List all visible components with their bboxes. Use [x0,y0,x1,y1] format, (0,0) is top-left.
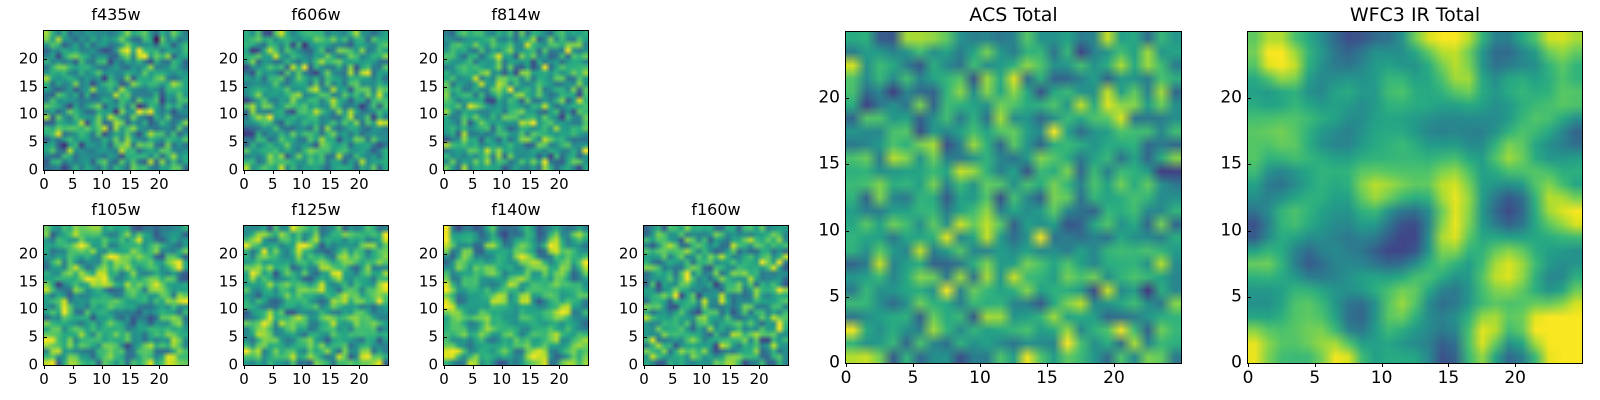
ytick-f606w-3 [243,87,247,88]
xtick-f435w-4 [159,170,160,174]
xticklabel-f140w-2: 10 [492,372,511,387]
xtick-f140w-3 [530,365,531,369]
axes-f435w [43,30,189,171]
axes-f814w [443,30,589,171]
xticklabel-wfc3-ir-total-2: 10 [1371,370,1393,387]
xticklabel-acs-total-4: 20 [1103,370,1125,387]
ytick-acs-total-0 [845,363,849,364]
yticklabel-f140w-3: 15 [398,274,438,289]
panel-wfc3-ir-total: WFC3 IR Total0510152005101520 [1247,5,1583,394]
ytick-f105w-0 [43,365,47,366]
panel-f160w: f160w0510152005101520 [643,199,789,396]
ytick-acs-total-4 [845,98,849,99]
xticklabel-f125w-1: 5 [268,372,278,387]
xticklabel-f160w-1: 5 [668,372,678,387]
yticklabel-acs-total-3: 15 [800,156,840,173]
panel-title-acs-total: ACS Total [845,6,1182,25]
xticklabel-wfc3-ir-total-0: 0 [1243,370,1254,387]
ytick-f140w-3 [443,282,447,283]
heatmap-f606w [244,31,388,170]
xtick-f105w-4 [159,365,160,369]
xticklabel-f160w-0: 0 [639,372,649,387]
yticklabel-f125w-1: 5 [198,330,238,345]
panel-f435w: f435w0510152005101520 [43,4,189,201]
yticklabel-f606w-4: 20 [198,51,238,66]
ytick-f140w-4 [443,254,447,255]
xticklabel-f160w-3: 15 [721,372,740,387]
panel-title-f435w: f435w [43,7,189,23]
yticklabel-f606w-2: 10 [198,107,238,122]
yticklabel-f606w-0: 0 [198,163,238,178]
figure-canvas: f435w0510152005101520f606w05101520051015… [0,0,1600,400]
xtick-f814w-1 [473,170,474,174]
ytick-f160w-4 [643,254,647,255]
yticklabel-f125w-2: 10 [198,302,238,317]
xticklabel-f435w-2: 10 [92,177,111,192]
xtick-f606w-4 [359,170,360,174]
xticklabel-f814w-4: 20 [550,177,569,192]
xtick-f140w-4 [559,365,560,369]
ytick-f105w-3 [43,282,47,283]
yticklabel-wfc3-ir-total-2: 10 [1202,222,1242,239]
yticklabel-f160w-1: 5 [598,330,638,345]
yticklabel-f606w-1: 5 [198,135,238,150]
ytick-f160w-1 [643,337,647,338]
xtick-f160w-2 [702,365,703,369]
xtick-f125w-1 [273,365,274,369]
xticklabel-f140w-1: 5 [468,372,478,387]
xtick-wfc3-ir-total-4 [1515,363,1516,367]
ytick-f606w-2 [243,114,247,115]
xticklabel-f105w-1: 5 [68,372,78,387]
xtick-f140w-2 [502,365,503,369]
panel-title-f606w: f606w [243,7,389,23]
panel-title-f814w: f814w [443,7,589,23]
ytick-f160w-2 [643,309,647,310]
xticklabel-wfc3-ir-total-3: 15 [1438,370,1460,387]
xtick-f606w-1 [273,170,274,174]
ytick-f125w-3 [243,282,247,283]
ytick-f125w-2 [243,309,247,310]
yticklabel-f160w-0: 0 [598,358,638,373]
xtick-f105w-1 [73,365,74,369]
xticklabel-f606w-2: 10 [292,177,311,192]
xtick-f814w-3 [530,170,531,174]
yticklabel-acs-total-0: 0 [800,355,840,372]
xtick-acs-total-2 [980,363,981,367]
xtick-wfc3-ir-total-3 [1448,363,1449,367]
yticklabel-acs-total-4: 20 [800,90,840,107]
axes-f125w [243,225,389,366]
yticklabel-f105w-4: 20 [0,246,38,261]
xtick-acs-total-4 [1114,363,1115,367]
heatmap-f160w [644,226,788,365]
panel-f140w: f140w0510152005101520 [443,199,589,396]
xticklabel-f606w-0: 0 [239,177,249,192]
xtick-f105w-3 [130,365,131,369]
xticklabel-acs-total-0: 0 [841,370,852,387]
heatmap-f814w [444,31,588,170]
xtick-acs-total-3 [1047,363,1048,367]
yticklabel-f105w-3: 15 [0,274,38,289]
yticklabel-f814w-1: 5 [398,135,438,150]
axes-wfc3-ir-total [1247,31,1583,364]
yticklabel-f105w-0: 0 [0,358,38,373]
yticklabel-f125w-0: 0 [198,358,238,373]
heatmap-f125w [244,226,388,365]
yticklabel-f435w-2: 10 [0,107,38,122]
xtick-f814w-4 [559,170,560,174]
yticklabel-f435w-4: 20 [0,51,38,66]
ytick-f606w-0 [243,170,247,171]
axes-f160w [643,225,789,366]
ytick-f435w-1 [43,142,47,143]
yticklabel-wfc3-ir-total-3: 15 [1202,156,1242,173]
xtick-f105w-2 [102,365,103,369]
yticklabel-f814w-0: 0 [398,163,438,178]
ytick-wfc3-ir-total-1 [1247,297,1251,298]
xticklabel-f105w-3: 15 [121,372,140,387]
ytick-acs-total-1 [845,297,849,298]
ytick-f160w-0 [643,365,647,366]
ytick-wfc3-ir-total-0 [1247,363,1251,364]
xtick-f160w-4 [759,365,760,369]
axes-f140w [443,225,589,366]
ytick-f435w-0 [43,170,47,171]
yticklabel-wfc3-ir-total-1: 5 [1202,288,1242,305]
xtick-f606w-3 [330,170,331,174]
xticklabel-f814w-1: 5 [468,177,478,192]
xticklabel-f140w-4: 20 [550,372,569,387]
xtick-f814w-2 [502,170,503,174]
xtick-f125w-4 [359,365,360,369]
panel-f606w: f606w0510152005101520 [243,4,389,201]
axes-acs-total [845,31,1182,364]
yticklabel-f814w-4: 20 [398,51,438,66]
axes-f105w [43,225,189,366]
xticklabel-f814w-3: 15 [521,177,540,192]
ytick-f125w-0 [243,365,247,366]
xtick-acs-total-1 [913,363,914,367]
xticklabel-f435w-4: 20 [150,177,169,192]
yticklabel-f814w-2: 10 [398,107,438,122]
yticklabel-wfc3-ir-total-4: 20 [1202,90,1242,107]
xticklabel-f435w-1: 5 [68,177,78,192]
panel-f814w: f814w0510152005101520 [443,4,589,201]
ytick-f105w-1 [43,337,47,338]
heatmap-wfc3-ir-total [1248,32,1582,363]
panel-title-f105w: f105w [43,202,189,218]
xticklabel-f435w-0: 0 [39,177,49,192]
ytick-f435w-3 [43,87,47,88]
ytick-f435w-4 [43,59,47,60]
xtick-f140w-1 [473,365,474,369]
ytick-f814w-0 [443,170,447,171]
xticklabel-f606w-3: 15 [321,177,340,192]
ytick-acs-total-2 [845,231,849,232]
xticklabel-acs-total-3: 15 [1036,370,1058,387]
panel-title-f160w: f160w [643,202,789,218]
panel-title-f140w: f140w [443,202,589,218]
xticklabel-f105w-4: 20 [150,372,169,387]
ytick-f105w-4 [43,254,47,255]
xtick-f160w-1 [673,365,674,369]
heatmap-f435w [44,31,188,170]
xticklabel-acs-total-1: 5 [908,370,919,387]
yticklabel-f140w-1: 5 [398,330,438,345]
yticklabel-f160w-3: 15 [598,274,638,289]
ytick-f606w-1 [243,142,247,143]
xtick-f125w-3 [330,365,331,369]
yticklabel-f125w-3: 15 [198,274,238,289]
heatmap-f140w [444,226,588,365]
xtick-f435w-1 [73,170,74,174]
yticklabel-f105w-1: 5 [0,330,38,345]
panel-acs-total: ACS Total0510152005101520 [845,5,1182,394]
heatmap-acs-total [846,32,1181,363]
yticklabel-f435w-0: 0 [0,163,38,178]
ytick-wfc3-ir-total-2 [1247,231,1251,232]
heatmap-f105w [44,226,188,365]
panel-f125w: f125w0510152005101520 [243,199,389,396]
ytick-f105w-2 [43,309,47,310]
ytick-f814w-1 [443,142,447,143]
yticklabel-f105w-2: 10 [0,302,38,317]
ytick-f814w-3 [443,87,447,88]
xticklabel-f140w-0: 0 [439,372,449,387]
xtick-f435w-2 [102,170,103,174]
xtick-f606w-2 [302,170,303,174]
yticklabel-f125w-4: 20 [198,246,238,261]
yticklabel-f140w-0: 0 [398,358,438,373]
xticklabel-f814w-0: 0 [439,177,449,192]
xticklabel-f125w-2: 10 [292,372,311,387]
xticklabel-f105w-0: 0 [39,372,49,387]
ytick-f606w-4 [243,59,247,60]
ytick-f140w-2 [443,309,447,310]
xtick-f160w-3 [730,365,731,369]
yticklabel-acs-total-2: 10 [800,222,840,239]
xticklabel-wfc3-ir-total-4: 20 [1504,370,1526,387]
xticklabel-f160w-2: 10 [692,372,711,387]
ytick-wfc3-ir-total-4 [1247,98,1251,99]
xticklabel-f105w-2: 10 [92,372,111,387]
xticklabel-f125w-4: 20 [350,372,369,387]
yticklabel-f814w-3: 15 [398,79,438,94]
xticklabel-f814w-2: 10 [492,177,511,192]
yticklabel-f140w-2: 10 [398,302,438,317]
xticklabel-f606w-1: 5 [268,177,278,192]
xticklabel-f125w-3: 15 [321,372,340,387]
yticklabel-f160w-2: 10 [598,302,638,317]
ytick-f125w-4 [243,254,247,255]
ytick-f160w-3 [643,282,647,283]
xticklabel-f125w-0: 0 [239,372,249,387]
ytick-f140w-0 [443,365,447,366]
xtick-wfc3-ir-total-2 [1382,363,1383,367]
yticklabel-acs-total-1: 5 [800,288,840,305]
ytick-f814w-4 [443,59,447,60]
xticklabel-f435w-3: 15 [121,177,140,192]
panel-title-f125w: f125w [243,202,389,218]
yticklabel-wfc3-ir-total-0: 0 [1202,355,1242,372]
ytick-acs-total-3 [845,164,849,165]
xticklabel-f606w-4: 20 [350,177,369,192]
yticklabel-f606w-3: 15 [198,79,238,94]
yticklabel-f140w-4: 20 [398,246,438,261]
panel-f105w: f105w0510152005101520 [43,199,189,396]
axes-f606w [243,30,389,171]
panel-title-wfc3-ir-total: WFC3 IR Total [1247,6,1583,25]
ytick-wfc3-ir-total-3 [1247,164,1251,165]
xtick-f435w-3 [130,170,131,174]
yticklabel-f435w-3: 15 [0,79,38,94]
yticklabel-f160w-4: 20 [598,246,638,261]
ytick-f140w-1 [443,337,447,338]
xticklabel-wfc3-ir-total-1: 5 [1309,370,1320,387]
xticklabel-f160w-4: 20 [750,372,769,387]
ytick-f814w-2 [443,114,447,115]
ytick-f435w-2 [43,114,47,115]
xtick-wfc3-ir-total-1 [1315,363,1316,367]
xticklabel-f140w-3: 15 [521,372,540,387]
xticklabel-acs-total-2: 10 [969,370,991,387]
ytick-f125w-1 [243,337,247,338]
yticklabel-f435w-1: 5 [0,135,38,150]
xtick-f125w-2 [302,365,303,369]
